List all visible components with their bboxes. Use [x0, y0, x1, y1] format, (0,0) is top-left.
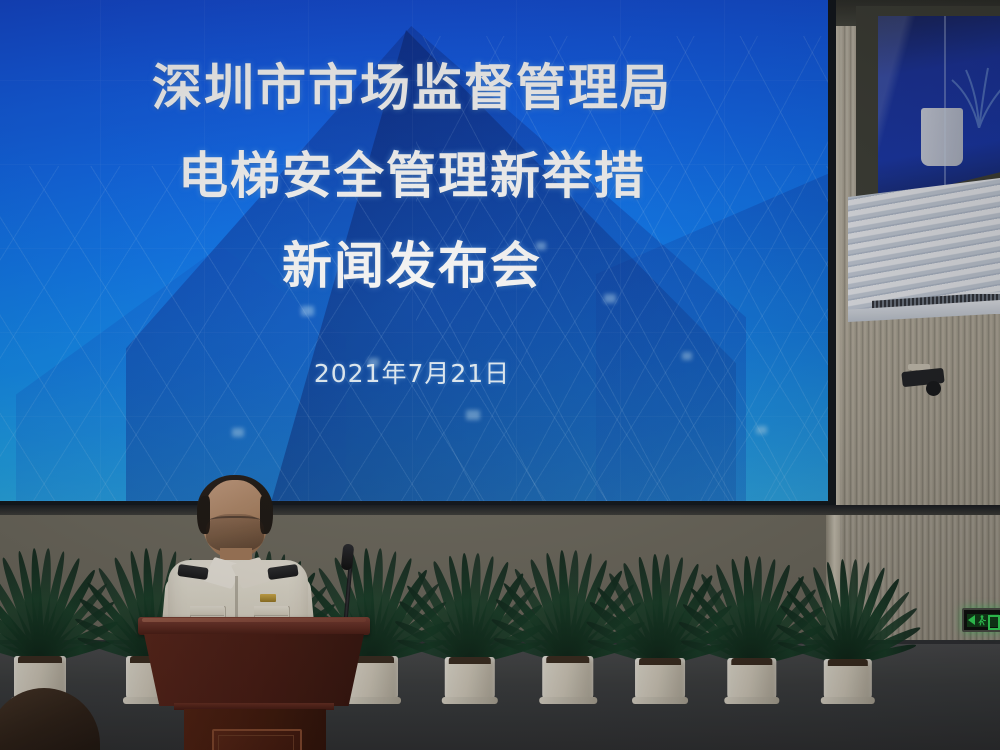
plant-soil: [449, 657, 491, 664]
led-screen: 深圳市市场监督管理局 电梯安全管理新举措 新闻发布会 2021年7月21日: [0, 0, 828, 501]
podium-front-panel-inner: [218, 735, 294, 750]
speaker-pocket-flap-left: [190, 606, 224, 616]
plant-soil: [546, 656, 589, 663]
plant-pot: [445, 657, 495, 700]
slide-date: 2021年7月21日: [0, 354, 828, 390]
plant-pot: [635, 658, 685, 700]
plant-soil: [639, 658, 681, 665]
potted-plant: [0, 540, 102, 700]
podium: [138, 617, 370, 750]
potted-plant: [790, 551, 905, 700]
podium-top-highlight: [142, 618, 366, 622]
camera-lens: [926, 381, 941, 396]
plant-pot: [824, 659, 872, 700]
led-screen-bezel: 深圳市市场监督管理局 电梯安全管理新举措 新闻发布会 2021年7月21日: [0, 0, 836, 509]
window-reflection-highlight: [878, 16, 1000, 202]
slide-title-line-3: 新闻发布会: [0, 226, 828, 298]
podium-body: [144, 634, 364, 706]
plant-soil: [731, 658, 772, 665]
running-person-icon: [978, 615, 987, 626]
plant-pot: [542, 656, 593, 700]
speaker-pocket-flap-right: [254, 606, 288, 616]
screen-base-shadow: [0, 505, 1000, 515]
slide-title-line-2: 电梯安全管理新举措: [0, 136, 828, 208]
press-conference-photo: 深圳市市场监督管理局 电梯安全管理新举措 新闻发布会 2021年7月21日: [0, 0, 1000, 750]
exit-arrow-icon: [968, 615, 975, 625]
emergency-exit-sign-icon: [962, 608, 1000, 632]
slide-text-block: 深圳市市场监督管理局 电梯安全管理新举措 新闻发布会 2021年7月21日: [0, 0, 828, 501]
speaker-glasses: [208, 516, 262, 529]
exit-door-icon: [988, 615, 1000, 630]
plant-soil: [828, 659, 869, 666]
exit-sign-face: [967, 614, 999, 627]
slide-title-line-1: 深圳市市场监督管理局: [0, 48, 828, 120]
security-camera-icon: [902, 370, 948, 388]
plant-soil: [18, 656, 62, 663]
plant-pot: [727, 658, 776, 700]
speaker-uniform-badge: [260, 594, 276, 602]
plant-leaves: [790, 557, 905, 663]
